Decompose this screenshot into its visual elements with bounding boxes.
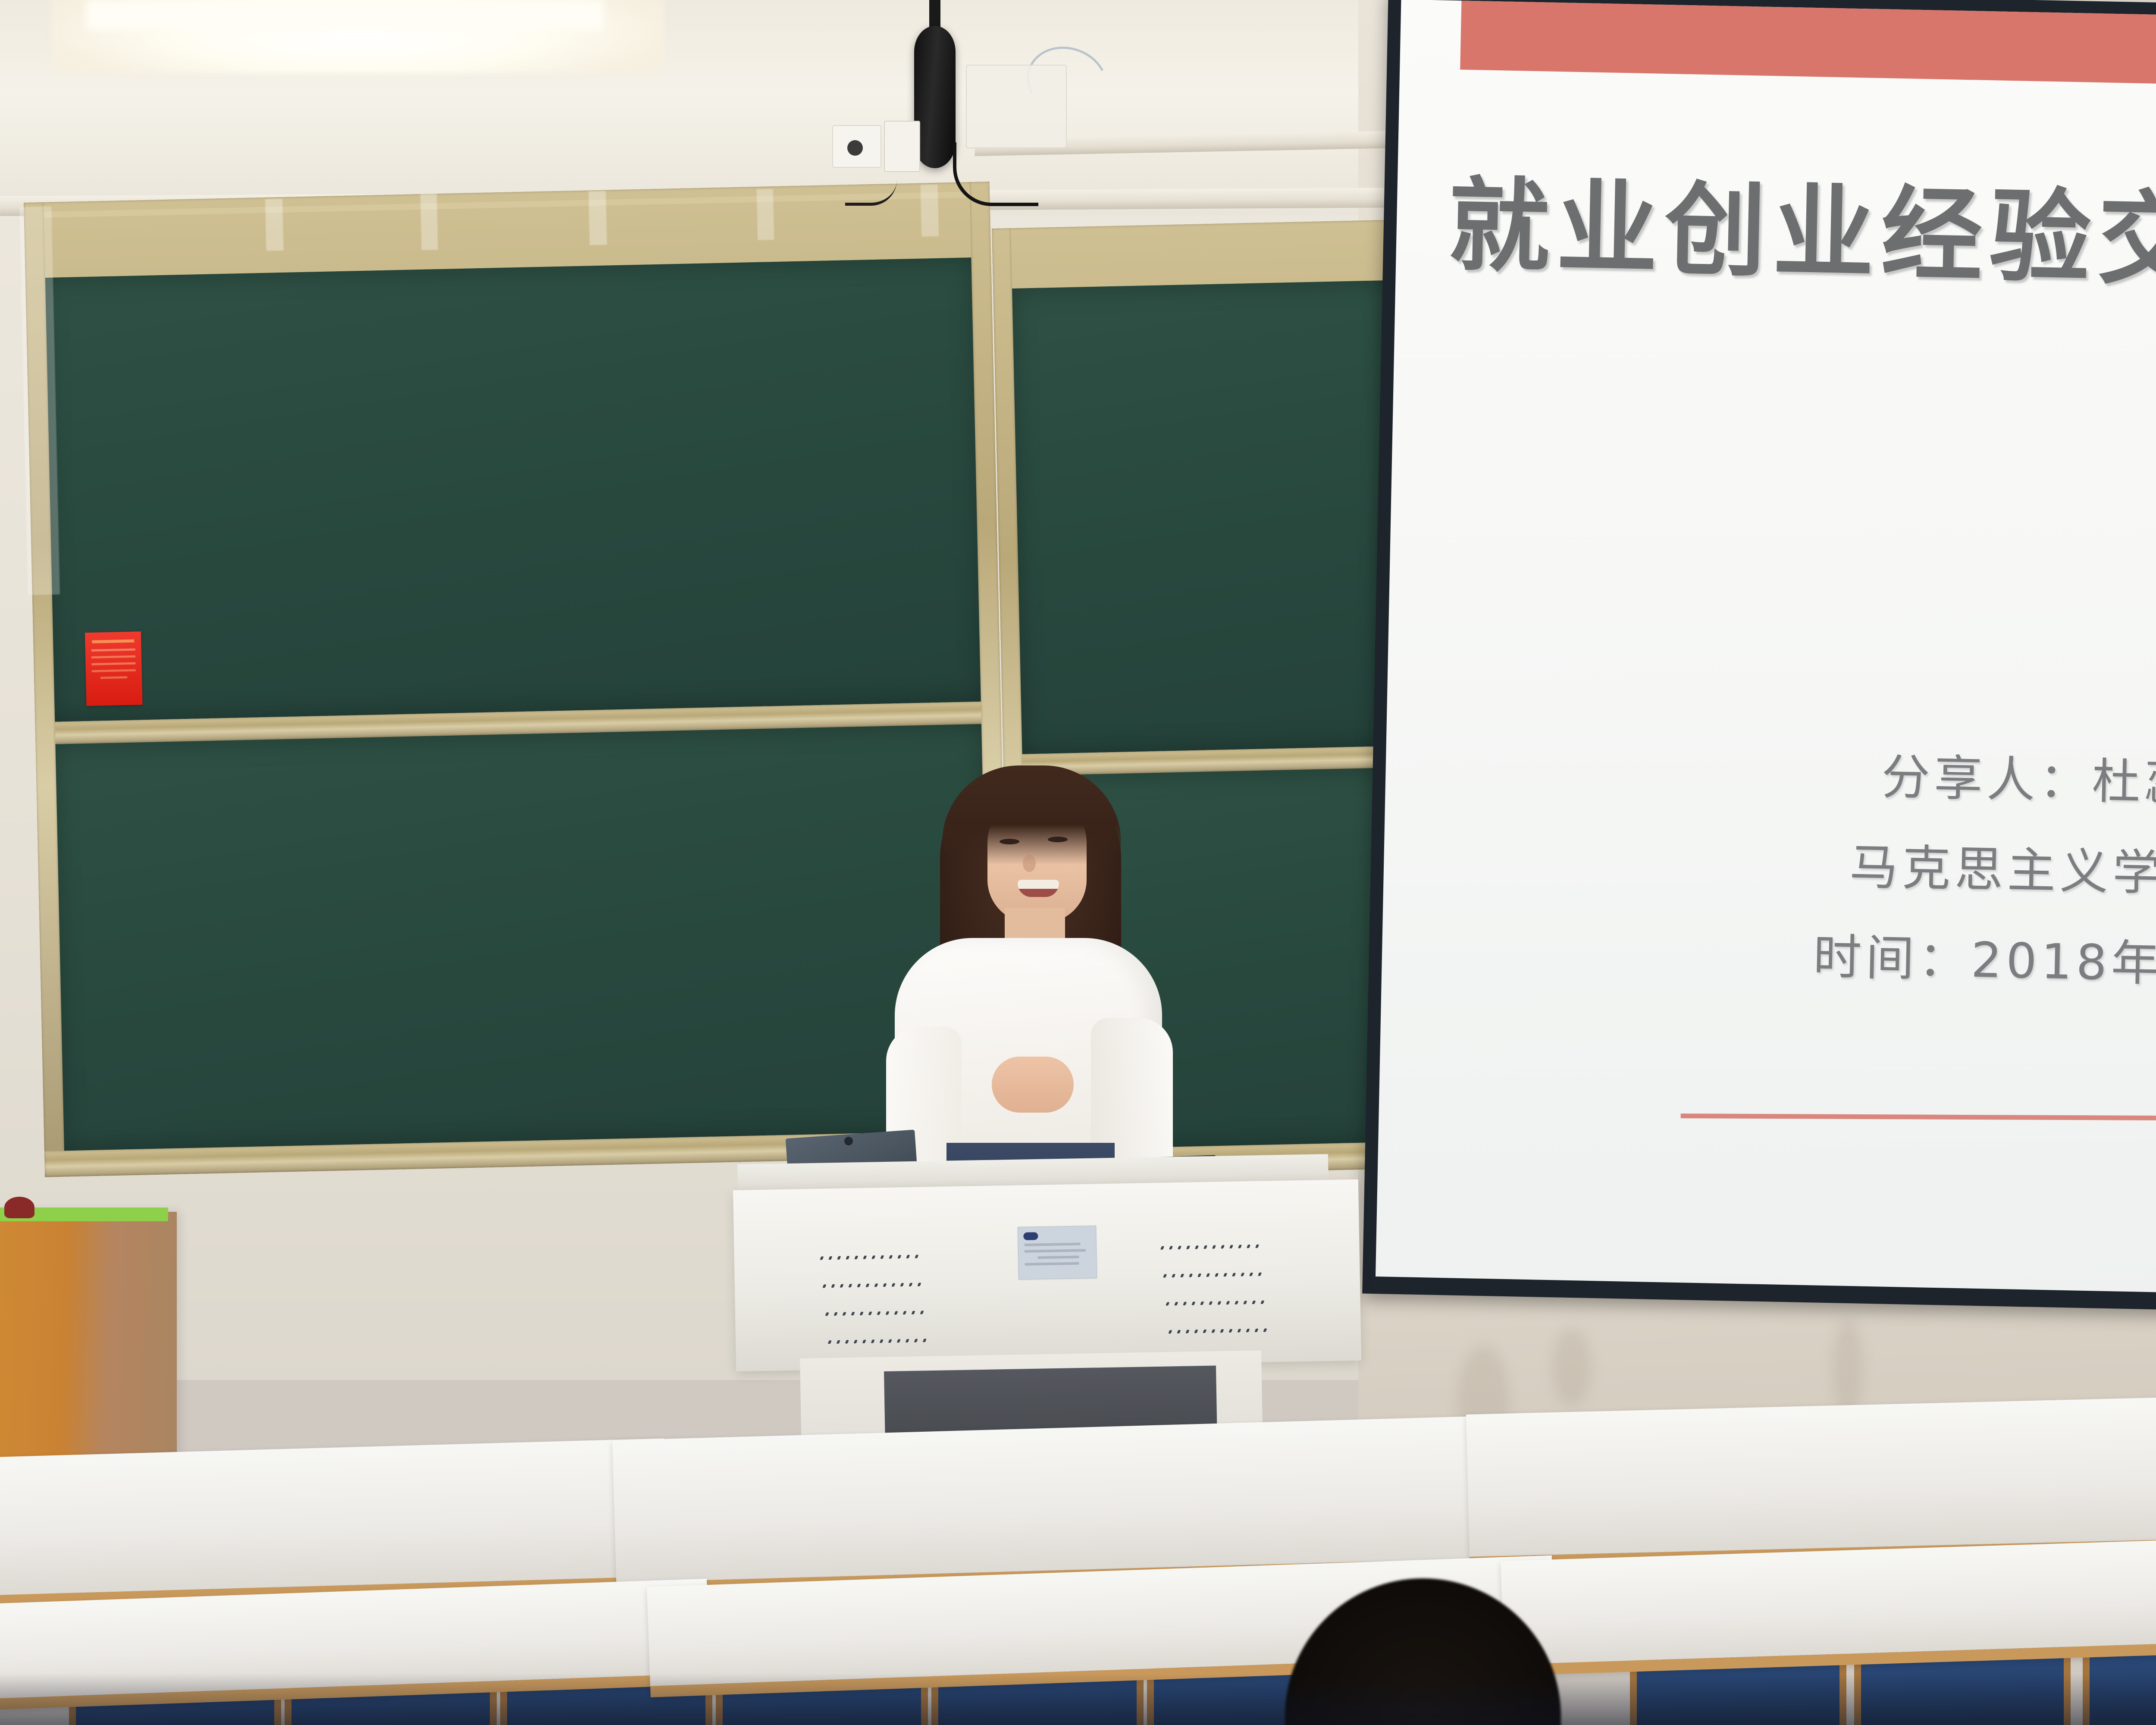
laptop-hinge <box>844 1137 853 1145</box>
red-notice-sticker <box>85 631 143 706</box>
slide-date-line: 时间：2018年5月18号 <box>1813 918 2156 999</box>
blackboard-panel <box>1010 280 1400 754</box>
foreground-shadow <box>0 1673 2156 1725</box>
speaker-nose <box>1023 855 1036 872</box>
blackboard-left <box>24 182 1011 1177</box>
slide-bottom-rule <box>1681 1113 2156 1122</box>
slide-accent-bar <box>1460 0 2156 92</box>
blackboard-panel <box>52 724 993 1151</box>
power-plug <box>847 140 863 156</box>
slide-title: 就业创业经验交流会 <box>1447 143 2156 313</box>
presentation-slide: 就业创业经验交流会 分享人：杜蕊 马克思主义学院 时间：2018年5月18号 <box>1376 0 2156 1300</box>
speaker-mouth <box>1018 880 1059 897</box>
slide-affiliation-line: 马克思主义学院 <box>1849 828 2156 905</box>
projection-screen[interactable]: 就业创业经验交流会 分享人：杜蕊 马克思主义学院 时间：2018年5月18号 <box>1362 0 2156 1318</box>
desk-row[interactable] <box>1466 1386 2156 1568</box>
wall-stain <box>1552 1328 1591 1406</box>
plaque-logo-icon <box>1023 1232 1038 1240</box>
blackboard-panel <box>42 257 984 722</box>
desk-row[interactable] <box>0 1438 668 1607</box>
power-cable <box>845 155 897 206</box>
speaker-hands <box>992 1057 1074 1113</box>
classroom-photo: 就业创业经验交流会 分享人：杜蕊 马克思主义学院 时间：2018年5月18号 <box>0 0 2156 1725</box>
lectern-red-object <box>4 1197 34 1218</box>
wall-stain <box>1833 1320 1863 1414</box>
ceiling-light <box>86 0 604 30</box>
manufacturer-plaque <box>1018 1226 1097 1280</box>
wall-bracket <box>966 65 1067 148</box>
slide-presenter-line: 分享人：杜蕊 <box>1881 738 2156 814</box>
microphone-icon <box>914 26 956 168</box>
speaker-eye <box>1048 837 1068 842</box>
speaker-eye <box>1000 839 1019 844</box>
